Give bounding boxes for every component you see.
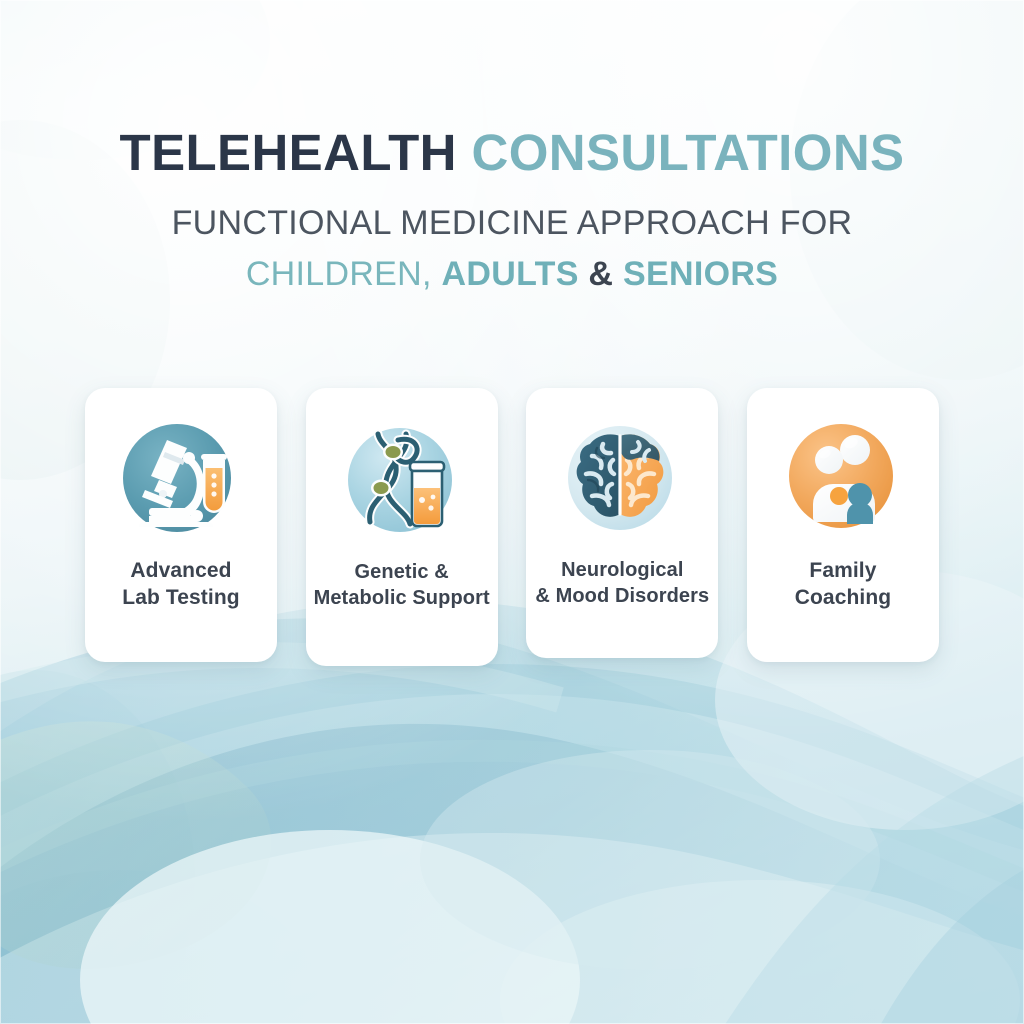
subtitle-line-2: CHILDREN, ADULTS & SENIORS (0, 253, 1024, 296)
service-card-row: Advanced Lab Testing (85, 388, 939, 666)
header: TELEHEALTH CONSULTATIONS FUNCTIONAL MEDI… (0, 126, 1024, 295)
service-card-label: Family Coaching (795, 558, 891, 612)
service-card-label-line2: Metabolic Support (314, 586, 490, 612)
service-card-genetic-metabolic-support[interactable]: Genetic & Metabolic Support (306, 388, 498, 666)
dna-helix-vial-icon (336, 414, 468, 546)
service-card-advanced-lab-testing[interactable]: Advanced Lab Testing (85, 388, 277, 662)
subtitle: FUNCTIONAL MEDICINE APPROACH FOR CHILDRE… (0, 202, 1024, 295)
service-card-family-coaching[interactable]: Family Coaching (747, 388, 939, 662)
service-card-neurological-mood-disorders[interactable]: Neurological & Mood Disorders (526, 388, 718, 658)
service-card-label-line1: Advanced (122, 558, 239, 585)
service-card-label-line2: Lab Testing (122, 585, 239, 612)
subtitle-line-1: FUNCTIONAL MEDICINE APPROACH FOR (0, 202, 1024, 245)
service-card-label: Advanced Lab Testing (122, 558, 239, 612)
subtitle-seniors: SENIORS (623, 255, 778, 293)
subtitle-adults: ADULTS (442, 255, 579, 293)
microscope-test-tube-icon (115, 412, 247, 544)
service-card-label-line1: Genetic & (314, 560, 490, 586)
service-card-label: Neurological & Mood Disorders (535, 558, 709, 609)
family-group-icon (777, 412, 909, 544)
page-title-part1: TELEHEALTH (120, 124, 457, 181)
subtitle-ampersand: & (588, 255, 613, 293)
subtitle-children: CHILDREN, (246, 255, 432, 293)
poster-canvas: TELEHEALTH CONSULTATIONS FUNCTIONAL MEDI… (0, 0, 1024, 1024)
service-card-label-line2: Coaching (795, 585, 891, 612)
split-brain-icon (556, 412, 688, 544)
page-title-part2: CONSULTATIONS (471, 124, 904, 181)
service-card-label-line1: Neurological (535, 558, 709, 584)
page-title: TELEHEALTH CONSULTATIONS (0, 126, 1024, 180)
service-card-label-line1: Family (795, 558, 891, 585)
service-card-label: Genetic & Metabolic Support (314, 560, 490, 611)
service-card-label-line2: & Mood Disorders (535, 584, 709, 610)
